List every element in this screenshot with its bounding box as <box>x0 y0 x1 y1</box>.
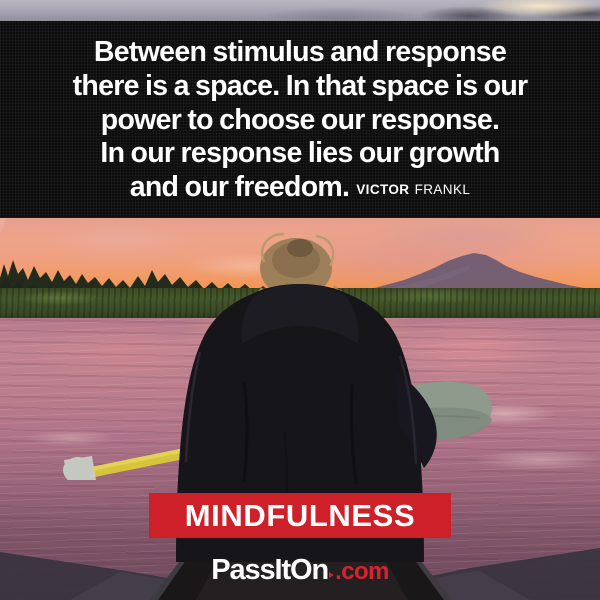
quote-line-4: In our response lies our growth <box>14 137 586 171</box>
quote-line-1: Between stimulus and response <box>14 36 586 70</box>
quote-line-5: and our freedom.VICTOR FRANKL <box>14 171 586 205</box>
quote-poster: Between stimulus and response there is a… <box>0 0 600 600</box>
quote-attribution: VICTOR FRANKL <box>356 182 470 197</box>
author-last-name: FRANKL <box>415 182 471 197</box>
quote-text: Between stimulus and response there is a… <box>14 36 586 204</box>
logo-brand-text: PassItOn <box>211 556 328 585</box>
quote-line-2: there is a space. In that space is our <box>14 70 586 104</box>
value-label: MINDFULNESS <box>185 500 416 531</box>
top-sky-strip <box>0 0 600 22</box>
quote-line-3: power to choose our response. <box>14 104 586 138</box>
logo-tld-text: .com <box>335 560 389 584</box>
value-banner: MINDFULNESS <box>149 493 451 538</box>
author-first-name: VICTOR <box>356 182 409 197</box>
quote-band: Between stimulus and response there is a… <box>0 21 600 218</box>
passiton-logo[interactable]: PassItOn .com <box>0 556 600 585</box>
quote-line-5-text: and our freedom. <box>130 171 350 203</box>
play-triangle-icon <box>329 572 334 578</box>
